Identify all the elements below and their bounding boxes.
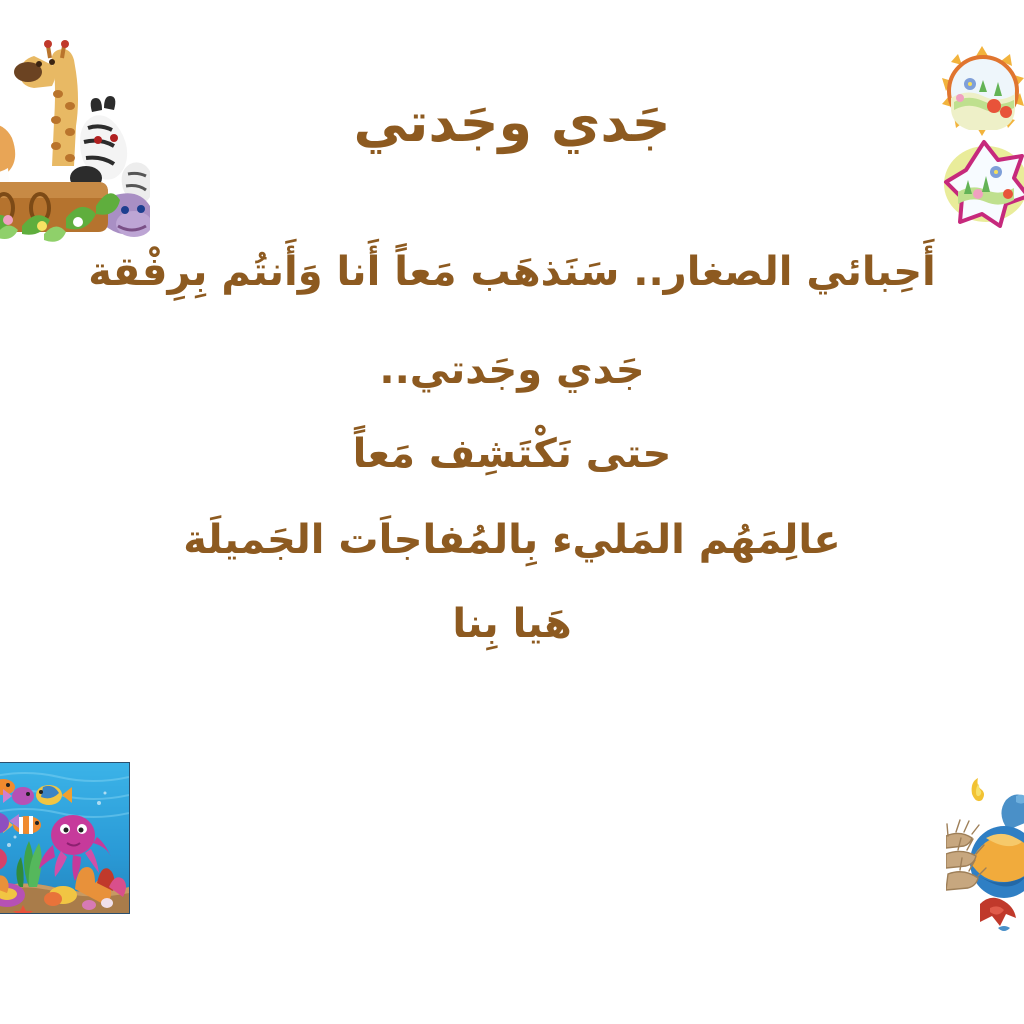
body-line-3: حتى نَكْتَشِف مَعاً (0, 434, 1024, 474)
body-line-1: أَحِبائي الصغار.. سَنَذهَب مَعاً أَنا وَ… (0, 252, 1024, 292)
body-text-block: أَحِبائي الصغار.. سَنَذهَب مَعاً أَنا وَ… (0, 252, 1024, 644)
aquarium-photo (0, 762, 130, 914)
slide-canvas: جَدي وجَدتي أَحِبائي الصغار.. سَنَذهَب م… (0, 0, 1024, 1024)
body-line-5: هَيا بِنا (0, 604, 1024, 644)
hands-globe-icon (946, 778, 1024, 938)
helping-hands-collage (946, 778, 1024, 938)
aquarium-scene-icon (0, 763, 129, 913)
page-title: جَدي وجَدتي (0, 92, 1024, 154)
body-line-2: جَدي وجَدتي.. (0, 350, 1024, 390)
body-line-4: عالِمَهُم المَليء بِالمُفاجاَت الجَميلَة (0, 520, 1024, 560)
